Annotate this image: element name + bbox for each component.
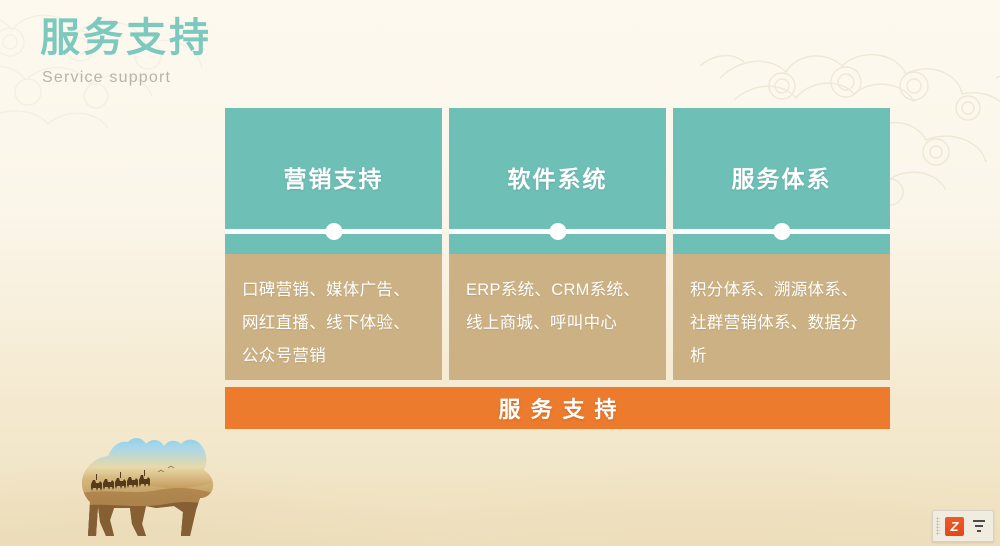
timeline-connector: [449, 228, 666, 234]
menu-icon[interactable]: [969, 517, 988, 536]
card-header: 营销支持: [225, 108, 442, 254]
footer-banner-label: 服务支持: [488, 392, 626, 424]
card-body-text: ERP系统、CRM系统、线上商城、呼叫中心: [466, 274, 649, 340]
app-icon[interactable]: Z: [945, 517, 964, 536]
footer-banner: 服务支持: [225, 387, 890, 429]
connector-node-icon: [773, 223, 790, 240]
card-header: 软件系统: [449, 108, 666, 254]
page-title: 服务支持: [40, 14, 460, 63]
floating-toolbar[interactable]: Z: [932, 510, 994, 542]
card-heading: 营销支持: [284, 168, 384, 191]
card-heading: 软件系统: [508, 168, 608, 191]
card-heading: 服务体系: [732, 168, 832, 191]
connector-node-icon: [325, 223, 342, 240]
drag-handle-icon[interactable]: [936, 517, 940, 535]
card-marketing-support[interactable]: 营销支持 口碑营销、媒体广告、网红直播、线下体验、公众号营销: [225, 108, 442, 380]
card-row: 营销支持 口碑营销、媒体广告、网红直播、线下体验、公众号营销 软件系统: [225, 108, 890, 380]
timeline-connector: [673, 228, 890, 234]
card-service-system[interactable]: 服务体系 积分体系、溯源体系、社群营销体系、数据分析: [673, 108, 890, 380]
card-deck: 营销支持 口碑营销、媒体广告、网红直播、线下体验、公众号营销 软件系统: [225, 108, 890, 429]
card-software-system[interactable]: 软件系统 ERP系统、CRM系统、线上商城、呼叫中心: [449, 108, 666, 380]
card-body: 积分体系、溯源体系、社群营销体系、数据分析: [673, 254, 890, 380]
slide-canvas: 服务支持 Service support 营销支持 口碑营销、媒体广告、网红直播…: [0, 0, 1000, 546]
card-header: 服务体系: [673, 108, 890, 254]
page-subtitle: Service support: [42, 69, 460, 87]
card-body-text: 口碑营销、媒体广告、网红直播、线下体验、公众号营销: [242, 274, 425, 373]
card-body: 口碑营销、媒体广告、网红直播、线下体验、公众号营销: [225, 254, 442, 380]
card-body: ERP系统、CRM系统、线上商城、呼叫中心: [449, 254, 666, 380]
page-title-block: 服务支持 Service support: [40, 14, 460, 87]
connector-node-icon: [549, 223, 566, 240]
timeline-connector: [225, 228, 442, 234]
card-body-text: 积分体系、溯源体系、社群营销体系、数据分析: [690, 274, 873, 373]
